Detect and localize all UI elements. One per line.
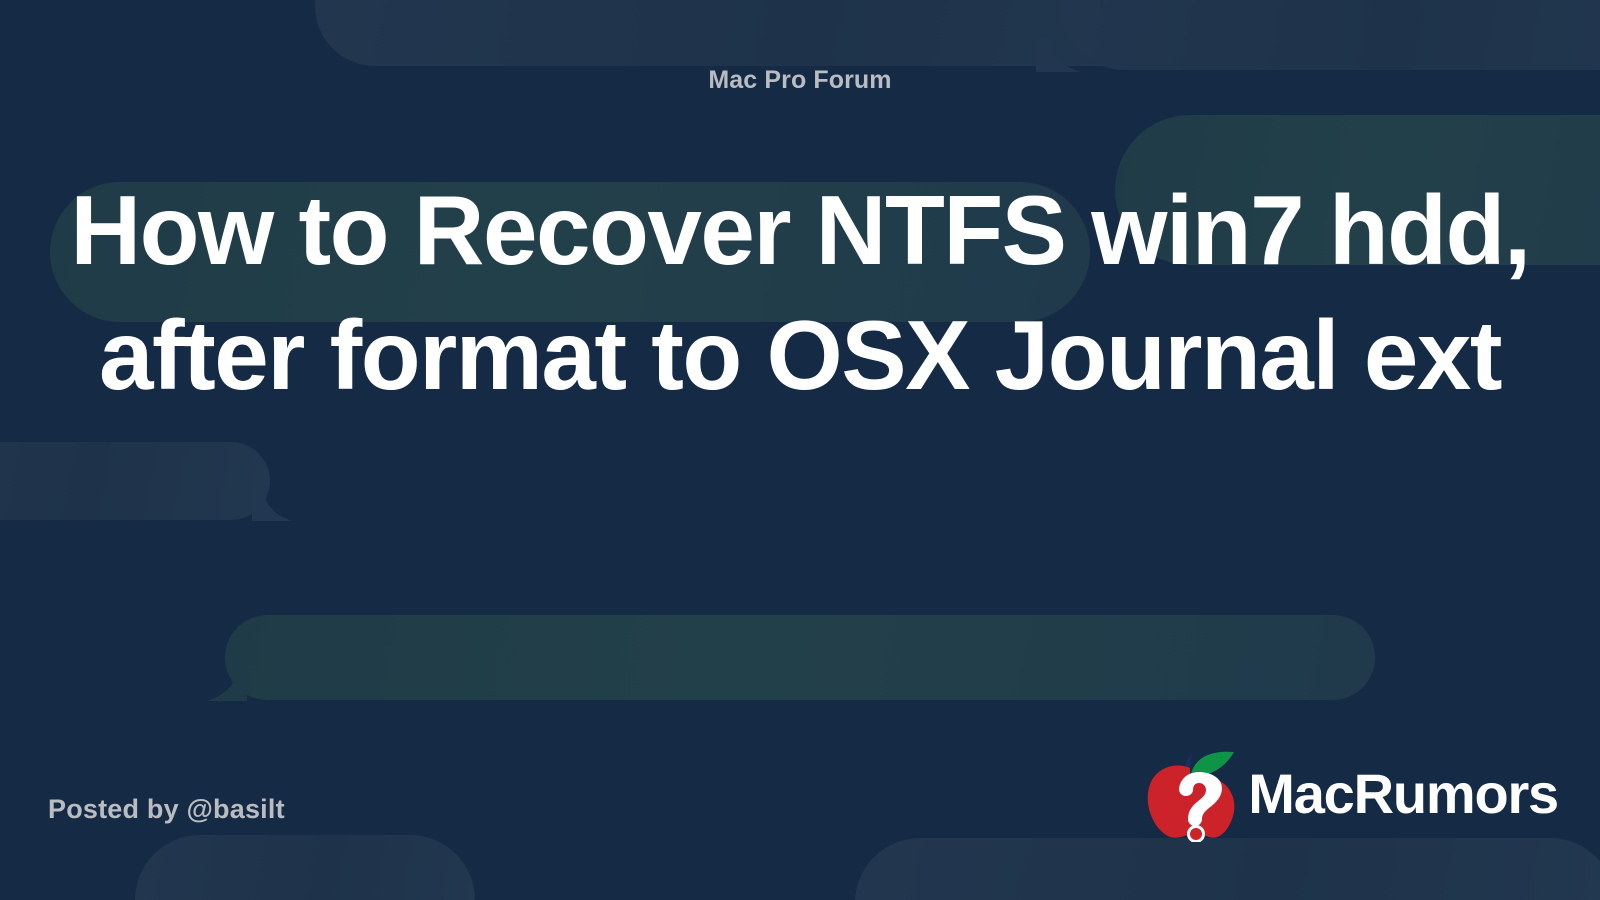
page-title-container: How to Recover NTFS win7 hdd, after form… (0, 168, 1600, 419)
forum-label: Mac Pro Forum (708, 68, 891, 93)
posted-by-label: Posted by @basilt (48, 794, 285, 825)
macrumors-apple-icon (1138, 746, 1242, 842)
macrumors-logo[interactable]: MacRumors (1138, 746, 1558, 842)
share-card: Mac Pro Forum How to Recover NTFS win7 h… (0, 0, 1600, 900)
page-title: How to Recover NTFS win7 hdd, after form… (60, 168, 1540, 419)
card-content: Mac Pro Forum How to Recover NTFS win7 h… (0, 0, 1600, 900)
macrumors-wordmark: MacRumors (1248, 766, 1558, 822)
